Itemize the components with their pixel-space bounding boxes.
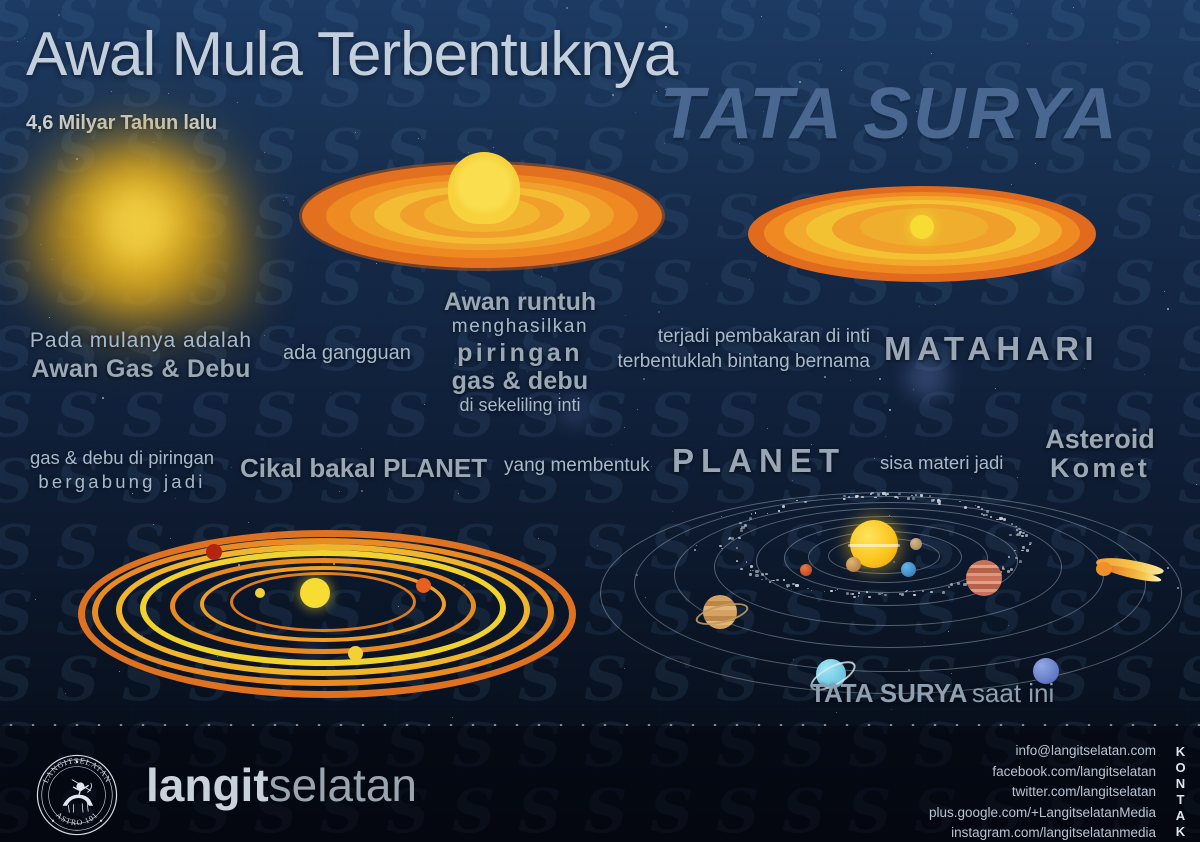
asteroid (855, 495, 859, 498)
watermark-letter: S (254, 386, 297, 446)
solar-system-label-light: saat ini (972, 678, 1054, 708)
caption-ignition-line1: terjadi pembakaran di inti (600, 325, 870, 350)
caption-accretion-line2: bergabung jadi (20, 470, 224, 494)
asteroid (755, 574, 759, 577)
contact-line[interactable]: twitter.com/langitselatan (929, 782, 1156, 803)
watermark-letter: S (188, 386, 231, 446)
asteroid (755, 512, 757, 513)
solar-system-illustration (648, 498, 1182, 702)
star (611, 444, 612, 445)
asteroid (930, 591, 932, 593)
asteroid (824, 591, 826, 592)
asteroid (901, 593, 904, 595)
caption-planet-label: PLANET (672, 442, 892, 480)
watermark-letter: S (716, 386, 759, 446)
star (264, 152, 265, 153)
asteroid (1019, 532, 1021, 534)
star (885, 436, 886, 437)
asteroid (964, 506, 968, 509)
caption-ignition: terjadi pembakaran di inti terbentuklah … (600, 325, 870, 374)
asteroid (884, 594, 887, 597)
asteroid (846, 592, 849, 594)
seal-centaur-figure (63, 780, 92, 813)
watermark-letter: S (56, 386, 99, 446)
asteroid (848, 496, 850, 498)
asteroid (731, 537, 734, 540)
watermark-letter: S (1112, 188, 1155, 248)
asteroid (996, 519, 998, 521)
protoplanetary-disk-with-star (748, 174, 1100, 292)
asteroid (738, 537, 741, 540)
asteroid (751, 513, 753, 514)
caption-small-bodies: Asteroid Komet (1010, 425, 1190, 483)
planet-mars (800, 564, 812, 576)
watermark-letter: S (782, 0, 825, 50)
contact-list: info@langitselatan.comfacebook.com/langi… (929, 741, 1156, 842)
asteroid (1018, 528, 1021, 530)
asteroid (767, 513, 768, 514)
asteroid (739, 522, 742, 524)
asteroid (807, 588, 809, 590)
big-heading-tata-surya: TATA SURYA (660, 78, 1119, 150)
protoplanet-red (206, 544, 222, 560)
asteroid (911, 495, 913, 496)
protoplanet-small-inner (255, 588, 265, 598)
asteroid (1026, 549, 1029, 552)
asteroid (773, 580, 775, 582)
watermark-letter: S (1046, 0, 1089, 50)
watermark-letter: S (650, 386, 693, 446)
star (418, 138, 419, 139)
watermark-letter: S (1178, 56, 1200, 116)
asteroid (761, 579, 763, 580)
star (1117, 42, 1118, 43)
asteroid (736, 547, 738, 549)
star (643, 378, 645, 380)
caption-collapse-line4: gas & debu (420, 368, 620, 395)
caption-forming: yang membentuk (504, 455, 674, 477)
asteroid (736, 560, 738, 562)
caption-collapse-line3: piringan (420, 339, 620, 369)
star (850, 380, 851, 381)
watermark-letter: S (1178, 0, 1200, 50)
star (612, 94, 614, 96)
asteroid (990, 516, 992, 518)
star (819, 59, 820, 60)
caption-gas-cloud-line1: Pada mulanya adalah (16, 328, 266, 354)
caption-komet: Komet (1010, 454, 1190, 483)
asteroid (1022, 546, 1025, 549)
asteroid (1009, 534, 1012, 536)
caption-disturbance: ada gangguan (283, 342, 443, 365)
planet-jupiter (966, 560, 1002, 596)
asteroid (938, 503, 941, 505)
asteroid (986, 510, 990, 513)
star (706, 283, 707, 284)
langitselatan-seal-logo: LANGITSELATAN ASTRO 101 (34, 752, 120, 838)
asteroid (771, 580, 773, 582)
watermark-letter: S (782, 386, 825, 446)
asteroid (721, 548, 723, 550)
asteroid (783, 579, 785, 581)
watermark-letter: S (848, 0, 891, 50)
asteroid (1021, 535, 1023, 537)
asteroid (985, 514, 988, 516)
asteroid (858, 592, 860, 594)
asteroid (1014, 550, 1015, 551)
asteroid (740, 568, 742, 570)
asteroid (975, 505, 977, 506)
asteroid (765, 573, 767, 575)
asteroid (792, 583, 795, 585)
asteroid (874, 497, 876, 499)
asteroid (782, 505, 786, 508)
seal-text-top: LANGITSELATAN (41, 756, 113, 784)
caption-matahari-label: MATAHARI (884, 330, 1184, 368)
asteroid (750, 565, 753, 567)
caption-disturbance-text: ada gangguan (283, 342, 443, 365)
caption-planet: PLANET (672, 442, 892, 480)
star (624, 427, 625, 428)
watermark-letter: S (320, 386, 363, 446)
protoplanet-rings-illustration (78, 516, 568, 700)
page-title: Awal Mula Terbentuknya (26, 24, 677, 86)
asteroid (1010, 568, 1014, 571)
contact-line[interactable]: plus.google.com/+LangitselatanMedia (929, 803, 1156, 824)
watermark-letter: S (0, 650, 33, 710)
watermark-letter: S (0, 386, 33, 446)
watermark-letter: S (848, 386, 891, 446)
brand-bold: langit (146, 759, 269, 811)
caption-accretion-line1: gas & debu di piringan (20, 446, 224, 470)
asteroid (1015, 526, 1017, 527)
watermark-letter: S (1112, 254, 1155, 314)
asteroid (719, 545, 722, 547)
asteroid (1002, 568, 1005, 570)
watermark-letter: S (1112, 0, 1155, 50)
asteroid (1016, 529, 1019, 531)
asteroid (977, 506, 980, 508)
asteroid (907, 497, 911, 500)
star (995, 388, 996, 389)
star (1073, 7, 1074, 8)
star (1144, 374, 1145, 375)
contact-line[interactable]: info@langitselatan.com (929, 741, 1156, 762)
asteroid (796, 500, 798, 501)
caption-matahari: MATAHARI (884, 330, 1184, 368)
watermark-letter: S (716, 0, 759, 50)
gas-dust-cloud-illustration (18, 118, 263, 348)
star (111, 91, 112, 92)
asteroid (1025, 534, 1028, 536)
asteroid (981, 508, 984, 510)
contact-line[interactable]: facebook.com/langitselatan (929, 762, 1156, 783)
asteroid (853, 596, 856, 599)
star (1196, 484, 1197, 485)
caption-protoplanet: Cikal bakal PLANET (240, 453, 510, 484)
contact-line[interactable]: instagram.com/langitselatanmedia (929, 823, 1156, 842)
star (17, 41, 18, 42)
watermark-letter: S (122, 386, 165, 446)
asteroid (868, 596, 870, 598)
asteroid (1011, 523, 1012, 524)
brand-wordmark: langitselatan (146, 762, 417, 808)
watermark-letter: S (1178, 254, 1200, 314)
caption-asteroid: Asteroid (1010, 425, 1190, 454)
asteroid (948, 586, 950, 588)
asteroid (922, 590, 924, 592)
kontak-label: KONTAK (1173, 744, 1188, 840)
asteroid (1021, 550, 1023, 552)
comet-icon (1096, 556, 1172, 586)
asteroid (776, 579, 779, 582)
star (658, 311, 660, 313)
planet-mercury (910, 538, 922, 550)
caption-collapse-line2: menghasilkan (420, 316, 620, 339)
asteroid (749, 520, 751, 521)
star (635, 112, 636, 113)
asteroid (1029, 544, 1031, 545)
caption-collapse: Awan runtuh menghasilkan piringan gas & … (420, 288, 620, 417)
asteroid (1019, 560, 1022, 562)
asteroid (950, 583, 953, 585)
planet-saturn (698, 590, 742, 634)
asteroid (920, 494, 923, 496)
asteroid (931, 499, 934, 502)
asteroid (811, 590, 813, 592)
asteroid (898, 493, 901, 495)
star (361, 448, 362, 449)
asteroid (871, 492, 874, 494)
asteroid (787, 586, 789, 587)
asteroid (1003, 518, 1006, 521)
planet-earth (901, 562, 916, 577)
asteroid (755, 570, 758, 573)
caption-collapse-line5: di sekeliling inti (420, 395, 620, 417)
watermark-letter: S (1178, 188, 1200, 248)
asteroid (881, 593, 883, 595)
watermark-letter: S (0, 518, 33, 578)
asteroid (740, 529, 744, 532)
asteroid (866, 591, 869, 593)
star (35, 599, 36, 600)
asteroid (744, 524, 747, 527)
infographic-poster: SSSSSSSSSSSSSSSSSSSSSSSSSSSSSSSSSSSSSSSS… (0, 0, 1200, 842)
watermark-letter: S (1178, 122, 1200, 182)
asteroid (761, 573, 764, 576)
star (624, 668, 625, 669)
asteroid (1008, 556, 1010, 558)
protoplanetary-disk-with-bulge (300, 140, 670, 290)
star (286, 197, 287, 198)
caption-ignition-line2: terbentuklah bintang bernama (600, 350, 870, 375)
asteroid (1016, 534, 1018, 536)
protoplanet-yellow (348, 646, 363, 661)
watermark-letter: S (584, 650, 627, 710)
asteroid (905, 591, 907, 593)
asteroid (942, 591, 945, 593)
asteroid (870, 493, 872, 494)
brand-light: selatan (269, 759, 417, 811)
caption-forming-text: yang membentuk (504, 455, 674, 477)
asteroid (913, 594, 916, 596)
protostar-core (300, 578, 330, 608)
protoplanet-orange (416, 578, 431, 593)
asteroid (937, 499, 940, 501)
watermark-letter: S (0, 584, 33, 644)
caption-accretion: gas & debu di piringan bergabung jadi (20, 446, 224, 494)
solar-system-label: TATA SURYA saat ini (810, 678, 1054, 709)
asteroid (1015, 557, 1018, 559)
asteroid (749, 573, 752, 576)
asteroid (804, 501, 807, 503)
asteroid (957, 582, 960, 584)
footer-divider (0, 724, 1200, 726)
watermark-letter: S (980, 0, 1023, 50)
asteroid (913, 591, 915, 592)
asteroid (861, 496, 864, 498)
star (1167, 308, 1169, 310)
asteroid (912, 497, 915, 500)
asteroid (837, 589, 839, 590)
seal-text-bottom: ASTRO 101 (54, 810, 100, 827)
star (889, 409, 891, 411)
asteroid (830, 590, 833, 592)
asteroid (897, 497, 899, 498)
caption-collapse-line1: Awan runtuh (420, 288, 620, 316)
caption-protoplanet-text: Cikal bakal PLANET (240, 453, 510, 484)
asteroid (959, 501, 961, 503)
caption-gas-cloud: Pada mulanya adalah Awan Gas & Debu (16, 328, 266, 386)
asteroid (852, 593, 854, 595)
asteroid (778, 510, 780, 512)
solar-system-label-bold: TATA SURYA (810, 678, 967, 708)
star (841, 70, 842, 71)
planet-venus (846, 557, 861, 572)
asteroid (752, 570, 754, 571)
asteroid (746, 561, 748, 562)
caption-gas-cloud-line2: Awan Gas & Debu (16, 354, 266, 385)
star (22, 573, 23, 574)
watermark-letter: S (914, 0, 957, 50)
asteroid (858, 595, 860, 596)
